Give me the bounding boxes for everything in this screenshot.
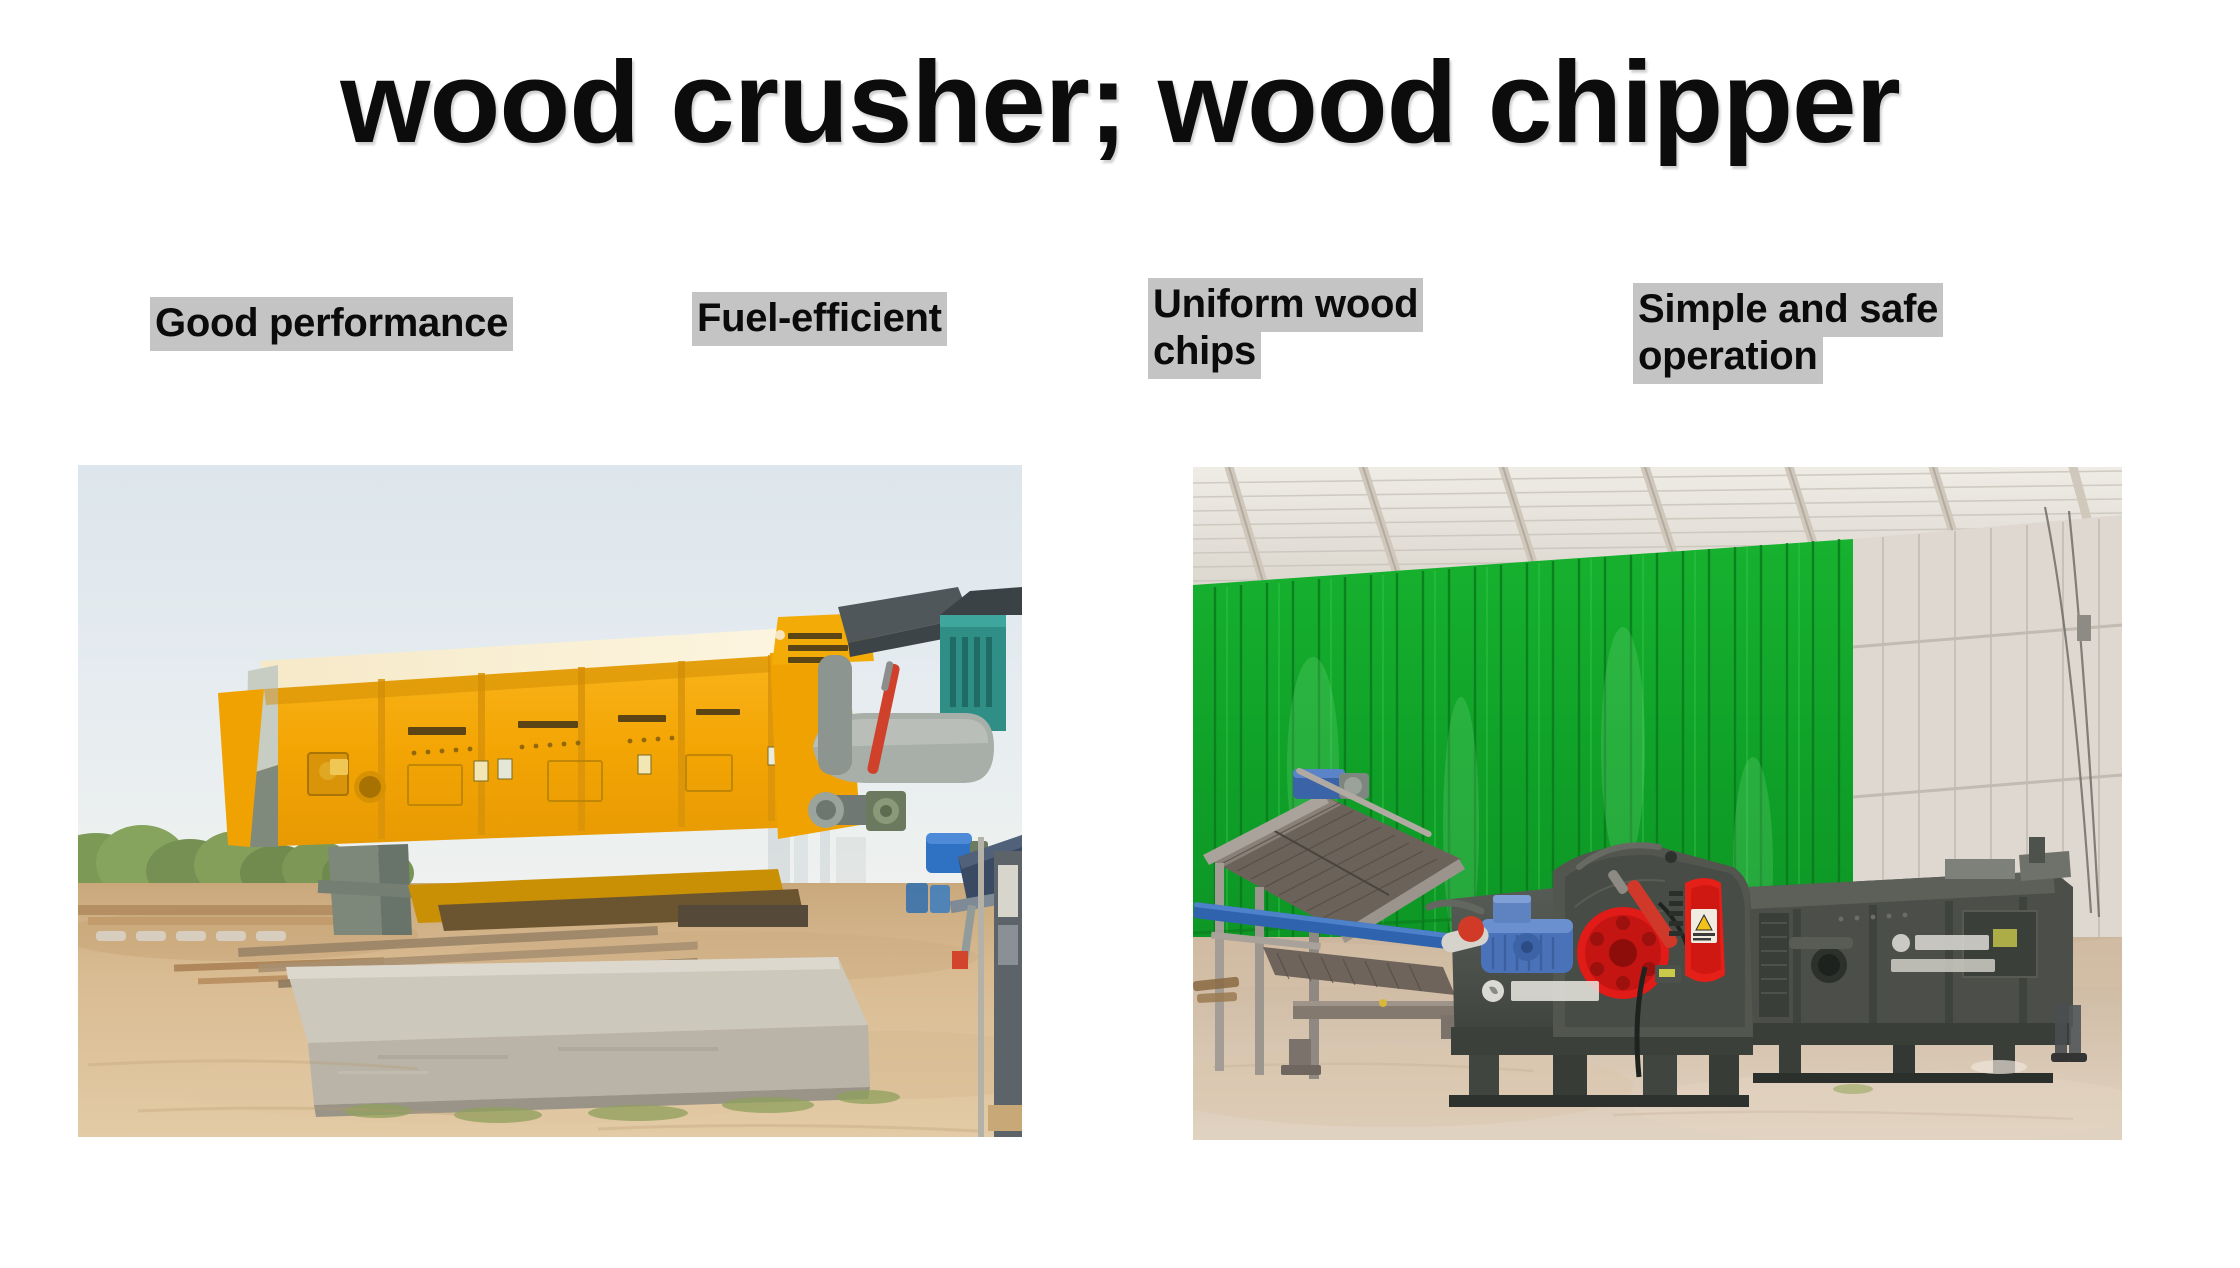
photo-wood-chipper-warehouse bbox=[1193, 467, 2122, 1140]
feature-line: Fuel-efficient bbox=[692, 292, 947, 346]
blue-barrels bbox=[906, 883, 950, 913]
photo-left-illustration bbox=[78, 465, 1022, 1137]
page-title: wood crusher; wood chipper bbox=[0, 38, 2240, 168]
feature-line: chips bbox=[1148, 325, 1261, 379]
feature-line: Simple and safe bbox=[1633, 283, 1943, 337]
feature-label-uniform-wood-chips: Uniform wood chips bbox=[1148, 281, 1488, 375]
concrete-foundation bbox=[286, 957, 870, 1117]
feature-label-simple-and-safe-operation: Simple and safe operation bbox=[1633, 286, 2013, 380]
red-guard-panel bbox=[1685, 878, 1725, 982]
feature-line: Good performance bbox=[150, 297, 513, 351]
brand-mark-left bbox=[1482, 980, 1599, 1002]
slide-canvas: wood crusher; wood chipper Good performa… bbox=[0, 0, 2240, 1268]
feature-label-fuel-efficient: Fuel-efficient bbox=[692, 295, 947, 342]
photo-wood-crusher-outdoor bbox=[78, 465, 1022, 1137]
feature-line: Uniform wood bbox=[1148, 278, 1423, 332]
photo-right-illustration bbox=[1193, 467, 2122, 1140]
feature-line: operation bbox=[1633, 330, 1823, 384]
feature-label-good-performance: Good performance bbox=[150, 300, 513, 347]
